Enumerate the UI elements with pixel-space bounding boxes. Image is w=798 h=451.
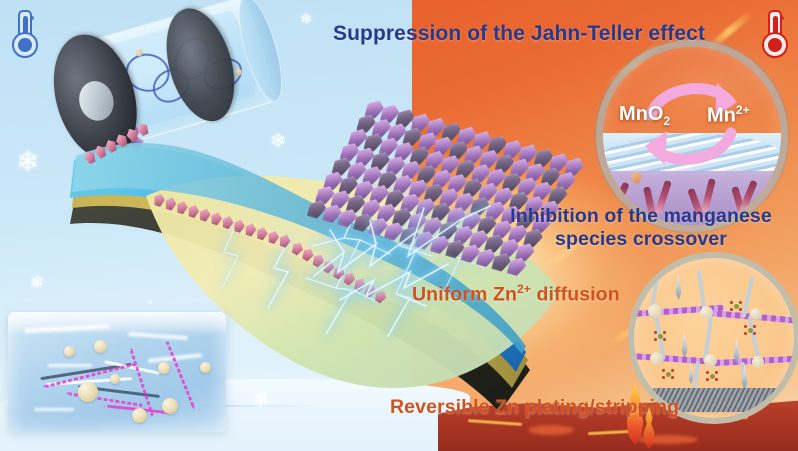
frozen-hydrogel-electrolyte-inset (8, 312, 226, 432)
network-node (704, 354, 717, 367)
zinc-ion-sphere (78, 382, 98, 402)
sulfate-ion-icon (730, 300, 742, 312)
sulfate-ion-icon (744, 324, 756, 336)
polymer-crosslink (747, 316, 760, 360)
mno2-species-label: MnO2 (619, 103, 670, 128)
zinc-ion-sphere (158, 362, 170, 374)
caption-uniform-charge: 2+ (517, 282, 531, 296)
thermometer-cold-icon (8, 8, 38, 60)
caption-inhibition: Inhibition of the manganese species cros… (508, 205, 774, 251)
caption-jahn-teller: Suppression of the Jahn-Teller effect (333, 22, 705, 46)
zinc-ion-sphere (110, 374, 120, 384)
zinc-deposit-icon (672, 274, 685, 300)
zinc-ion-sphere (94, 340, 107, 353)
zinc-ion-sphere (64, 346, 75, 357)
network-node (650, 352, 663, 365)
caption-uniform-suffix: diffusion (531, 284, 620, 306)
sulfate-ion-icon (662, 368, 674, 380)
zinc-ion-sphere (132, 408, 147, 423)
network-node (750, 308, 762, 320)
caption-reversible-plating: Reversible Zn plating/stripping (390, 396, 679, 419)
caption-inhibition-line2: species crossover (555, 228, 727, 250)
network-node (752, 356, 764, 368)
caption-inhibition-line1: Inhibition of the manganese (510, 205, 772, 227)
zinc-deposit-icon (738, 364, 751, 390)
sulfate-ion-icon (654, 330, 666, 342)
caption-uniform-diffusion: Uniform Zn2+ diffusion (412, 282, 620, 307)
thermometer-hot-icon (758, 8, 788, 60)
mn2plus-species-label: Mn2+ (707, 103, 750, 128)
network-node (700, 306, 713, 319)
lattice-lightning (300, 180, 560, 330)
electrode-terminal (75, 77, 119, 125)
reduction-arrow-icon (643, 123, 739, 169)
zinc-deposit-icon (678, 332, 691, 358)
zinc-ion-sphere (162, 398, 178, 414)
manganese-dissolution-inset: MnO2 Mn2+ (596, 40, 788, 232)
graphical-abstract-figure: ❄ ❄ ❄ ❄ ❄ ❄ ❄ ❄ (0, 0, 798, 451)
zinc-ion-sphere (200, 362, 211, 373)
network-node (648, 304, 662, 318)
caption-uniform-prefix: Uniform Zn (412, 284, 517, 306)
sulfate-ion-icon (706, 370, 718, 382)
